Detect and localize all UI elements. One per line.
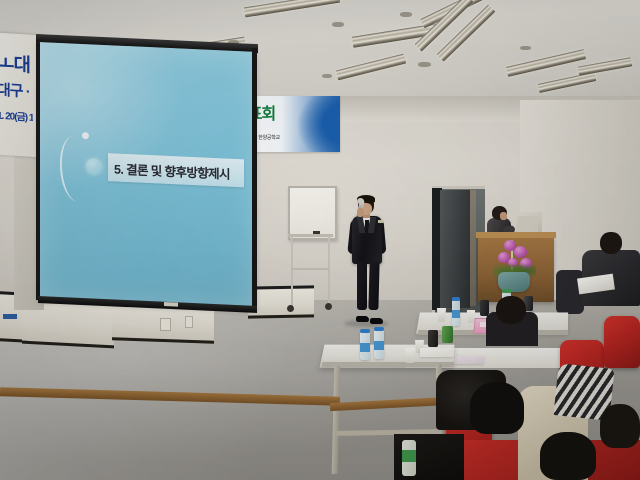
bottle-label	[402, 450, 416, 462]
slide-arc-cap-icon	[82, 132, 89, 139]
bottle-label	[452, 310, 460, 318]
ceiling-vent-icon	[418, 62, 431, 67]
microphone-head-icon	[357, 198, 364, 204]
screen-left-edge	[36, 42, 40, 300]
banner-left-line2: 대구 ·	[0, 79, 30, 102]
front-table-edge	[322, 362, 455, 367]
door-hinge-icon	[470, 190, 476, 306]
projection-screen: 5. 결론 및 향후방향제시	[36, 34, 258, 306]
banner-swoosh-icon	[290, 96, 340, 152]
podium-attendant-face	[500, 212, 507, 220]
whiteboard-tray	[288, 234, 333, 237]
presenter-legs	[356, 262, 380, 312]
screen-right-edge	[252, 48, 257, 306]
equipment-logo	[3, 314, 17, 319]
door-panel[interactable]	[440, 190, 470, 308]
banner-left-line1: ㅗ대	[0, 49, 30, 78]
document-stack	[420, 348, 454, 357]
podium-surface	[476, 232, 556, 238]
bottle-cap-icon	[502, 289, 511, 293]
slide-title-text: 5. 결론 및 향후방향제시	[108, 158, 230, 183]
beverage-can	[428, 330, 438, 347]
whiteboard-leg	[291, 236, 293, 308]
bottle-cap-icon	[360, 329, 370, 333]
presenter-leg	[368, 262, 379, 310]
audience-head	[600, 404, 640, 448]
whiteboard-leg	[328, 236, 330, 306]
audience-head	[470, 382, 524, 434]
wall-outlet-icon	[160, 318, 171, 331]
bottle-label	[374, 341, 384, 350]
caster-wheel-icon	[325, 303, 332, 310]
screen-pull-tab-icon	[164, 302, 178, 307]
banner-left-line3: 1. 20(금) 1	[0, 107, 33, 124]
bottle-cap-icon	[374, 327, 384, 331]
presenter-shoe	[370, 318, 383, 324]
projected-slide: 5. 결론 및 향후방향제시	[38, 42, 256, 310]
ceiling-vent-icon	[332, 22, 344, 27]
orchid-flower-icon	[514, 246, 527, 258]
presenter-shoe	[356, 316, 369, 322]
auditorium-seat	[604, 316, 640, 368]
bottle-cap-icon	[452, 297, 460, 301]
reader-head	[600, 232, 622, 254]
audience-head	[540, 432, 596, 480]
bottle-label	[360, 343, 370, 352]
slide-bullet-dot-icon	[86, 158, 102, 175]
marker-icon	[313, 231, 320, 234]
presenter-leg	[357, 262, 367, 310]
ceiling-vent-icon	[520, 46, 531, 50]
ceiling-vent-icon	[322, 74, 332, 78]
beverage-can	[442, 326, 453, 343]
presenter-badge	[378, 220, 383, 223]
wall-outlet-icon	[185, 316, 193, 328]
ceiling-vent-icon	[400, 12, 412, 17]
presenter	[348, 196, 390, 322]
whiteboard-crossbar	[291, 268, 329, 270]
caster-wheel-icon	[287, 305, 294, 312]
audience-head	[496, 296, 526, 324]
photo-scene: 발표회 표회 구대학교 한양공학교 ㅗ대 대구 · 1. 20(금) 1 5. …	[0, 0, 640, 480]
presenter-hand	[357, 208, 364, 217]
